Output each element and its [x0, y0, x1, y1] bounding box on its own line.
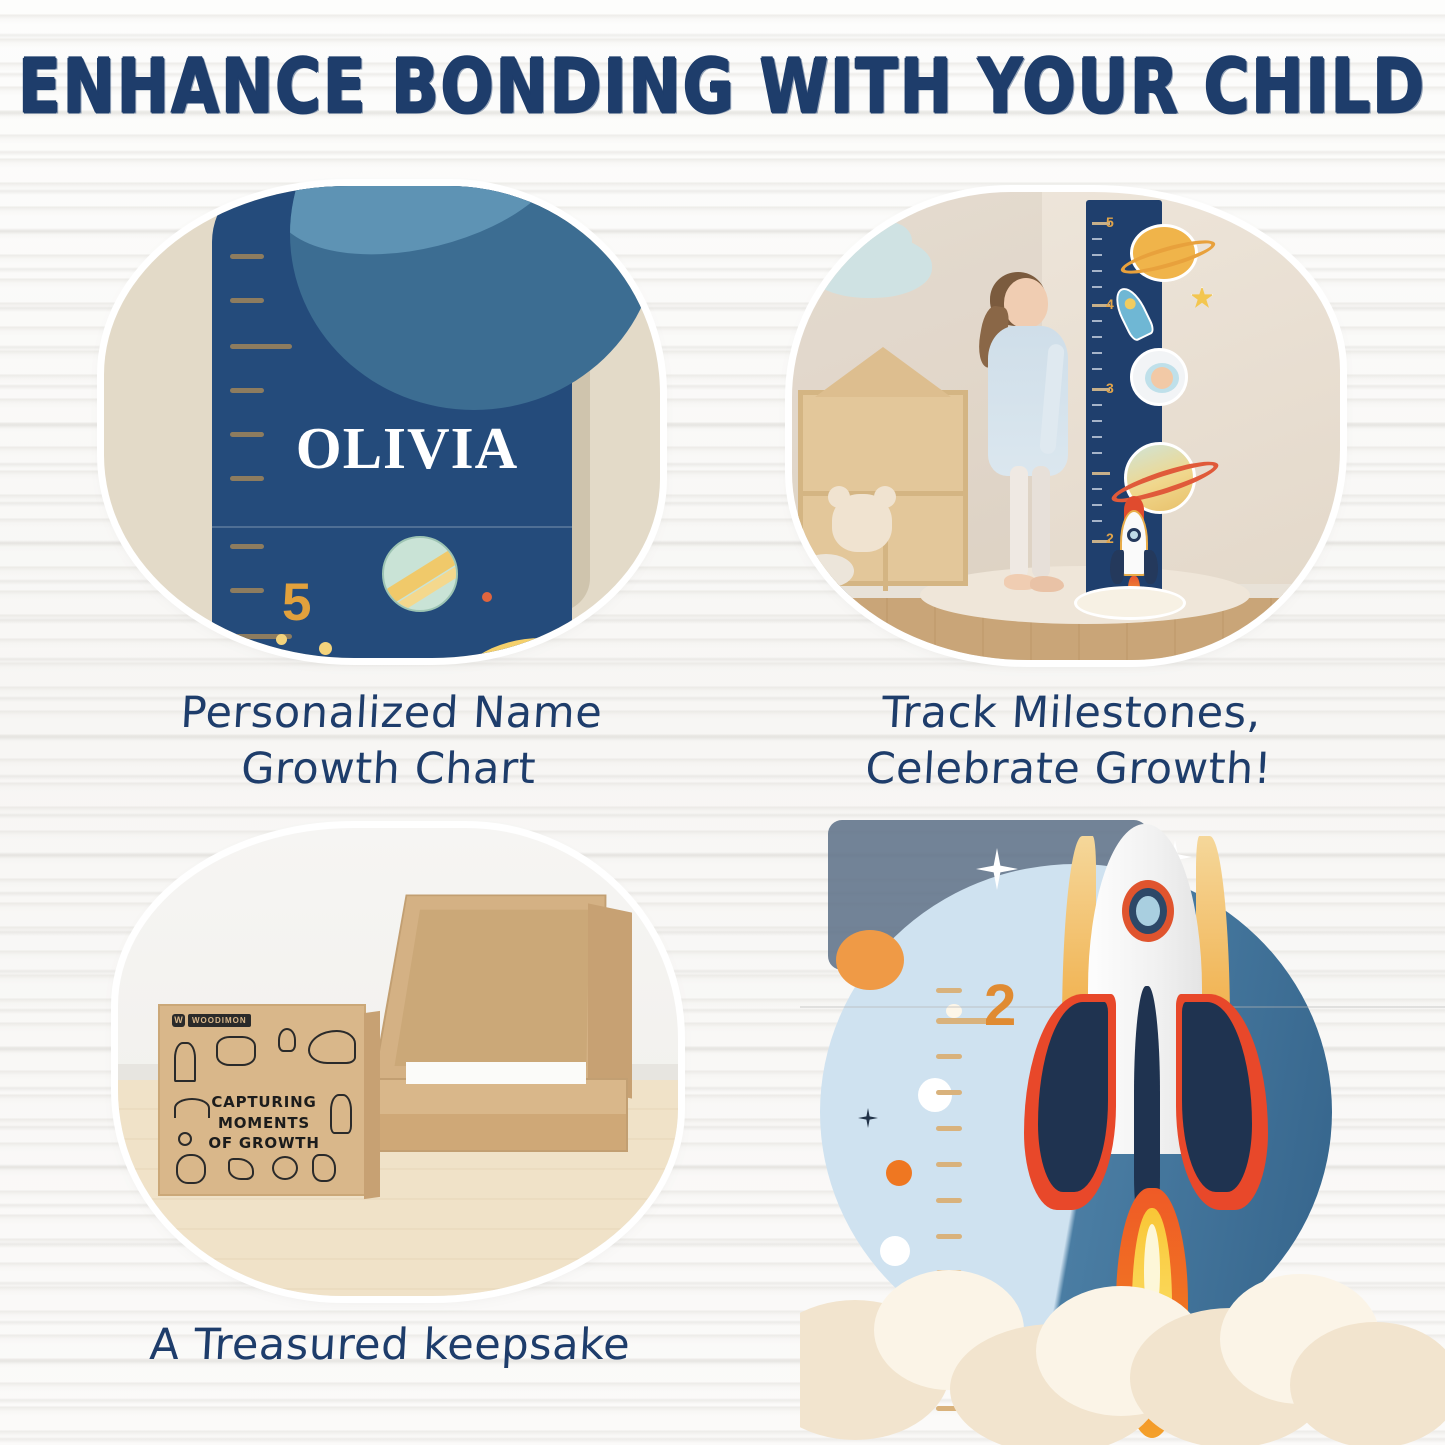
caption-line-1: Personalized Name: [120, 686, 663, 742]
child-leg-right: [1032, 466, 1050, 578]
box-slogan-line-1: CAPTURING: [160, 1092, 368, 1113]
card-packaging-photo: W WOODIMON CAPTURING MOMENTS OF GROWTH: [118, 828, 678, 1296]
chart-number-5: 5: [1106, 214, 1114, 230]
caption-packaging: A Treasured keepsake: [99, 1318, 682, 1374]
doodle-pineapple: [278, 1028, 296, 1052]
planet-shade-a: [290, 186, 584, 282]
card-personalized-name-chart: OLIVIA 5: [104, 186, 660, 658]
ruler-tick: [1092, 352, 1102, 354]
ruler-tick: [936, 988, 962, 993]
shelf-roof: [815, 347, 951, 397]
ruler-tick-major: [230, 344, 292, 349]
ruler-tick: [936, 1198, 962, 1203]
card-packaging-image: W WOODIMON CAPTURING MOMENTS OF GROWTH: [118, 828, 678, 1296]
red-dot-star: [482, 592, 492, 602]
cloud-wall-light: [804, 234, 932, 298]
rocket-fin-left: [1110, 550, 1124, 584]
white-dot-large: [880, 1236, 910, 1266]
ruler-tick: [230, 254, 264, 259]
ruler-tick: [936, 1126, 962, 1131]
ruler-tick: [230, 544, 264, 549]
ruler-tick: [1092, 452, 1102, 454]
doodle-cactus: [174, 1042, 196, 1082]
ruler-tick: [1092, 320, 1102, 322]
yellow-dot-star: [319, 642, 332, 655]
doodle-bird: [176, 1154, 206, 1184]
rocket-porthole-glass: [1136, 896, 1160, 926]
doodle-palm-tree: [312, 1154, 336, 1182]
ruler-tick: [1092, 254, 1102, 256]
ruler-tick: [230, 432, 264, 437]
child-head: [1004, 278, 1048, 328]
rocket-fin-right: [1144, 550, 1158, 584]
page-title: ENHANCE BONDING WITH YOUR CHILD: [0, 44, 1445, 115]
child-standing: [974, 278, 1084, 598]
card-lifestyle-image: 5 4 3 2: [792, 192, 1340, 660]
child-foot-right: [1030, 576, 1064, 592]
open-box-base: [368, 1078, 628, 1152]
white-tissue-paper: [406, 1062, 586, 1084]
box-slogan: CAPTURING MOMENTS OF GROWTH: [160, 1092, 368, 1154]
ruler-tick: [1092, 504, 1102, 506]
open-box-lid-inner: [394, 910, 589, 1066]
brand-mark-icon: W: [172, 1014, 185, 1027]
yellow-dot-star: [276, 634, 287, 645]
card-lifestyle-photo: 5 4 3 2: [792, 192, 1340, 660]
board-panel-seam: [212, 526, 572, 528]
ruler-tick: [1092, 368, 1102, 370]
child-name-label: OLIVIA: [272, 414, 542, 483]
rocket-keel: [1134, 986, 1160, 1218]
ruler-tick: [230, 588, 264, 593]
page-title-text: ENHANCE BONDING WITH YOUR CHILD: [19, 44, 1427, 131]
brand-name-label: WOODIMON: [188, 1014, 251, 1027]
ruler-tick: [1092, 420, 1102, 422]
ruler-number-5: 5: [282, 572, 311, 633]
ruler-tick: [936, 1090, 962, 1095]
doodle-leaf: [228, 1158, 254, 1180]
card-personalized-name-chart-image: OLIVIA 5: [104, 186, 660, 658]
open-box-front-panel: [370, 1114, 626, 1150]
ruler-tick: [936, 1054, 962, 1059]
ruler-tick: [936, 1162, 962, 1167]
box-slogan-line-2: MOMENTS: [160, 1113, 368, 1134]
ruler-tick: [1092, 488, 1102, 490]
teddy-bear-toy: [832, 494, 892, 552]
ruler-tick: [1092, 270, 1102, 272]
ruler-tick: [230, 476, 264, 481]
ruler-tick: [1092, 436, 1102, 438]
chart-number-3: 3: [1106, 380, 1114, 396]
chart-number-4: 4: [1106, 296, 1114, 312]
caption-line-1: Track Milestones,: [800, 686, 1343, 742]
caption-line-1: A Treasured keepsake: [99, 1318, 682, 1374]
ruler-tick: [1092, 238, 1102, 240]
doodle-lion: [216, 1036, 256, 1066]
caption-line-2: Celebrate Growth!: [797, 742, 1340, 798]
rocket-porthole: [1127, 528, 1141, 542]
ruler-tick: [1092, 336, 1102, 338]
orange-dot-small: [886, 1160, 912, 1186]
small-ringed-planet: [382, 536, 458, 612]
caption-lifestyle: Track Milestones, Celebrate Growth!: [797, 686, 1343, 798]
doodle-monkey: [272, 1156, 298, 1180]
wall-growth-chart: 5 4 3 2: [1086, 200, 1162, 608]
doodle-dinosaur: [308, 1030, 356, 1064]
ruler-tick: [230, 388, 264, 393]
box-slogan-line-3: OF GROWTH: [160, 1133, 368, 1154]
hero-rocket-illustration: 2: [800, 816, 1445, 1445]
orange-planet-large: [836, 930, 904, 990]
astronaut-sticker: [1130, 348, 1188, 406]
ruler-tick: [1092, 286, 1102, 288]
ruler-tick: [1092, 520, 1102, 522]
astronaut-face: [1151, 367, 1173, 389]
child-leg-left: [1010, 466, 1028, 578]
caption-line-2: Growth Chart: [117, 742, 660, 798]
caption-personalized-name-chart: Personalized Name Growth Chart: [117, 686, 663, 798]
brand-logo: W WOODIMON: [172, 1014, 251, 1027]
ruler-tick-major: [1092, 472, 1110, 475]
ruler-tick: [936, 1234, 962, 1239]
rocket-cloud-base: [1074, 586, 1186, 620]
plush-spot: [810, 562, 822, 574]
ruler-tick: [1092, 404, 1102, 406]
printed-gift-box: W WOODIMON CAPTURING MOMENTS OF GROWTH: [158, 1004, 366, 1196]
ruler-tick: [230, 298, 264, 303]
open-box-lid: [372, 895, 607, 1086]
saturn-planet-sticker: [1130, 224, 1198, 282]
plush-dog-toy: [798, 554, 854, 588]
smoke-cloud: [1290, 1322, 1445, 1445]
open-box-side-flap: [588, 903, 632, 1098]
